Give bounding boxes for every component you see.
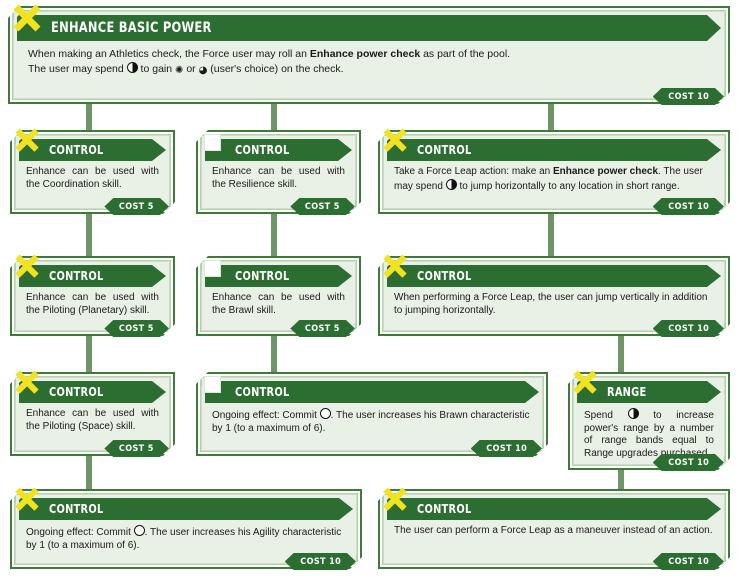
card-body-text: Enhance can be used with the Piloting (S…	[26, 408, 159, 433]
connector-col1-r1-r2	[86, 212, 92, 258]
card-inner: CONTROL Enhance can be used with the Coo…	[15, 135, 170, 209]
card-inner: CONTROL Ongoing effect: Commit . The use…	[201, 377, 543, 451]
connector-col1-r3-r4	[86, 456, 92, 489]
cost-badge: COST 10	[653, 88, 724, 105]
cost-badge: COST 5	[290, 198, 355, 215]
card-header: CONTROL	[387, 498, 721, 520]
card-inner: CONTROL Enhance can be used with the Res…	[201, 135, 356, 209]
success-icon: ◕	[199, 66, 208, 76]
cost-badge: COST 10	[653, 454, 724, 471]
card-body-text: Ongoing effect: Commit . The user increa…	[26, 525, 346, 552]
card-body-text: Enhance can be used with the Brawl skill…	[212, 292, 345, 317]
cost-badge: COST 10	[471, 440, 542, 457]
power-card-control-brawn[interactable]: CONTROL Ongoing effect: Commit . The use…	[196, 372, 548, 456]
card-title: CONTROL	[417, 144, 471, 156]
card-body-line-1: When making an Athletics check, the Forc…	[28, 47, 710, 61]
card-header: CONTROL	[205, 265, 352, 287]
card-title: CONTROL	[417, 270, 471, 282]
force-point-icon	[628, 408, 639, 419]
power-card-range[interactable]: RANGE Spend to increase power's range by…	[568, 372, 730, 470]
card-body-text: When performing a Force Leap, the user c…	[394, 292, 714, 317]
card-title: CONTROL	[235, 144, 289, 156]
card-header: ENHANCE BASIC POWER	[17, 15, 721, 41]
connector-col2-r2-r3	[271, 334, 277, 372]
cost-badge: COST 5	[104, 198, 169, 215]
card-body-text: Take a Force Leap action: make an Enhanc…	[394, 166, 714, 193]
card-title: ENHANCE BASIC POWER	[51, 21, 212, 35]
card-header: CONTROL	[19, 381, 166, 403]
connector-root-to-col1	[86, 100, 92, 132]
card-body-line-2: The user may spend to gain ✺ or ◕ (user'…	[28, 62, 710, 76]
power-card-control-jump-vertically[interactable]: CONTROL When performing a Force Leap, th…	[378, 256, 730, 336]
cost-badge: COST 5	[290, 320, 355, 337]
card-header: CONTROL	[387, 265, 721, 287]
card-title: CONTROL	[49, 144, 103, 156]
card-header: CONTROL	[19, 139, 166, 161]
connector-col2-r1-r2	[271, 212, 277, 258]
connector-root-to-col2	[271, 100, 277, 132]
card-header: CONTROL	[387, 139, 721, 161]
card-body-text: Enhance can be used with the Resilience …	[212, 166, 345, 191]
power-card-control-piloting-space[interactable]: CONTROL Enhance can be used with the Pil…	[10, 372, 175, 456]
force-power-tree-sheet: ENHANCE BASIC POWER When making an Athle…	[0, 0, 738, 582]
cost-badge: COST 10	[653, 320, 724, 337]
power-card-control-resilience[interactable]: CONTROL Enhance can be used with the Res…	[196, 130, 361, 214]
card-inner: CONTROL Enhance can be used with the Pil…	[15, 377, 170, 451]
commit-force-icon	[320, 408, 331, 419]
advantage-icon: ✺	[175, 66, 183, 76]
card-title: CONTROL	[235, 386, 289, 398]
card-body-text: Ongoing effect: Commit . The user increa…	[212, 408, 532, 435]
connector-col3-r1-r2	[548, 212, 554, 258]
cost-badge: COST 10	[653, 553, 724, 570]
connector-col3-r2-r3	[618, 334, 624, 372]
cost-badge: COST 10	[653, 198, 724, 215]
card-header: CONTROL	[19, 498, 353, 520]
card-header: CONTROL	[19, 265, 166, 287]
power-card-control-agility[interactable]: CONTROL Ongoing effect: Commit . The use…	[10, 489, 362, 569]
card-inner: RANGE Spend to increase power's range by…	[573, 377, 725, 465]
card-title: CONTROL	[235, 270, 289, 282]
power-card-control-force-leap[interactable]: CONTROL Take a Force Leap action: make a…	[378, 130, 730, 214]
power-card-enhance-basic-power[interactable]: ENHANCE BASIC POWER When making an Athle…	[8, 6, 730, 104]
card-title: CONTROL	[49, 386, 103, 398]
force-point-icon	[127, 62, 138, 73]
power-card-control-piloting-planetary[interactable]: CONTROL Enhance can be used with the Pil…	[10, 256, 175, 336]
card-inner: ENHANCE BASIC POWER When making an Athle…	[13, 11, 725, 99]
power-card-control-maneuver[interactable]: CONTROL The user can perform a Force Lea…	[378, 489, 730, 569]
card-body-text: The user can perform a Force Leap as a m…	[394, 525, 714, 538]
cost-badge: COST 5	[104, 320, 169, 337]
force-point-icon	[446, 179, 457, 190]
card-title: RANGE	[607, 386, 646, 398]
card-body: When making an Athletics check, the Forc…	[14, 41, 724, 98]
connector-col1-r2-r3	[86, 334, 92, 372]
cost-badge: COST 10	[285, 553, 356, 570]
power-card-control-brawl[interactable]: CONTROL Enhance can be used with the Bra…	[196, 256, 361, 336]
card-body-text: Enhance can be used with the Piloting (P…	[26, 292, 159, 317]
card-header: RANGE	[577, 381, 721, 403]
power-card-control-coordination[interactable]: CONTROL Enhance can be used with the Coo…	[10, 130, 175, 214]
card-header: CONTROL	[205, 381, 539, 403]
card-title: CONTROL	[417, 503, 471, 515]
connector-root-to-col3	[548, 100, 554, 132]
card-header: CONTROL	[205, 139, 352, 161]
card-body-text: Spend to increase power's range by a num…	[584, 408, 714, 460]
card-title: CONTROL	[49, 503, 103, 515]
card-body-text: Enhance can be used with the Coordinatio…	[26, 166, 159, 191]
card-inner: CONTROL Take a Force Leap action: make a…	[383, 135, 725, 209]
cost-badge: COST 5	[104, 440, 169, 457]
commit-force-icon	[134, 525, 145, 536]
card-title: CONTROL	[49, 270, 103, 282]
